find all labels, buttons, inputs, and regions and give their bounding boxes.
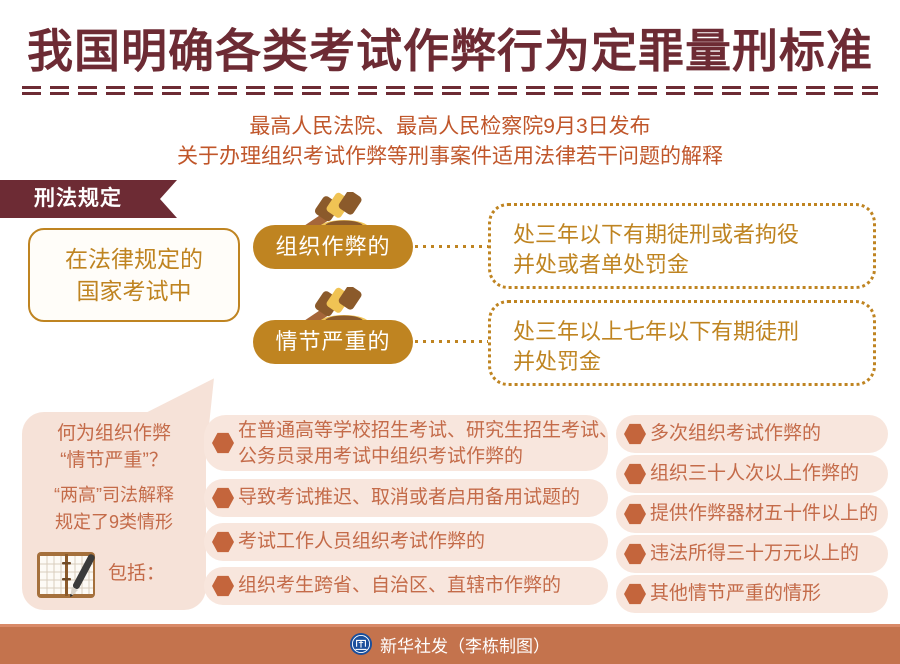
list-item: 在普通高等学校招生考试、研究生招生考试、 公务员录用考试中组织考试作弊的 [204, 415, 608, 471]
notebook-pen-icon [36, 548, 98, 602]
penalty-1-line-1: 处三年以下有期徒刑或者拘役 [513, 220, 873, 250]
list-item-text: 考试工作人员组织考试作弊的 [238, 529, 485, 555]
list-item: 提供作弊器材五十件以上的 [616, 495, 888, 533]
list-item-text: 导致考试推迟、取消或者启用备用试题的 [238, 485, 580, 511]
footer-credit: 新华社发（李栋制图） [380, 632, 550, 657]
premise-line-1: 在法律规定的 [65, 243, 203, 275]
offense-pill-2: 情节严重的 [253, 320, 413, 364]
offense-pill-1: 组织作弊的 [253, 225, 413, 269]
premise-box: 在法律规定的 国家考试中 [28, 228, 240, 322]
bullet-hex-icon [212, 487, 234, 509]
page-title: 我国明确各类考试作弊行为定罪量刑标准 [0, 22, 900, 80]
include-label: 包括： [108, 560, 165, 588]
list-item-line-1: 在普通高等学校招生考试、研究生招生考试、 [238, 418, 618, 444]
list-item: 考试工作人员组织考试作弊的 [204, 523, 608, 561]
list-item-line-2: 公务员录用考试中组织考试作弊的 [238, 444, 618, 470]
list-item-text: 其他情节严重的情形 [650, 581, 821, 607]
list-item-text: 违法所得三十万元以上的 [650, 541, 859, 567]
list-item: 违法所得三十万元以上的 [616, 535, 888, 573]
question-line-2: “情节严重”？ [22, 447, 206, 474]
penalty-1-line-2: 并处或者单处罚金 [513, 250, 873, 280]
subtitle-line-1: 最高人民法院、最高人民检察院9月3日发布 [0, 112, 900, 142]
list-item-text: 提供作弊器材五十件以上的 [650, 501, 878, 527]
list-item-text: 多次组织考试作弊的 [650, 421, 821, 447]
question-line-3: “两高”司法解释 [22, 482, 206, 509]
list-item: 组织三十人次以上作弊的 [616, 455, 888, 493]
list-item-text: 在普通高等学校招生考试、研究生招生考试、 公务员录用考试中组织考试作弊的 [238, 418, 618, 470]
subtitle-line-2: 关于办理组织考试作弊等刑事案件适用法律若干问题的解释 [0, 142, 900, 172]
question-line-4: 规定了9类情形 [22, 509, 206, 536]
question-line-1: 何为组织作弊 [22, 420, 206, 447]
divider-line-bottom [22, 92, 878, 95]
xinhua-logo-icon [350, 633, 372, 655]
subtitle: 最高人民法院、最高人民检察院9月3日发布 关于办理组织考试作弊等刑事案件适用法律… [0, 112, 900, 172]
penalty-box-2: 处三年以上七年以下有期徒刑 并处罚金 [488, 300, 876, 386]
bullet-hex-icon [624, 423, 646, 445]
ribbon-notch-shape [160, 180, 177, 218]
bullet-hex-icon [624, 543, 646, 565]
list-item-text: 组织三十人次以上作弊的 [650, 461, 859, 487]
list-item: 其他情节严重的情形 [616, 575, 888, 613]
list-item: 导致考试推迟、取消或者启用备用试题的 [204, 479, 608, 517]
premise-line-2: 国家考试中 [77, 275, 192, 307]
list-item: 组织考生跨省、自治区、直辖市作弊的 [204, 567, 608, 605]
penalty-2-line-2: 并处罚金 [513, 347, 873, 377]
title-divider [22, 86, 878, 95]
penalty-box-1: 处三年以下有期徒刑或者拘役 并处或者单处罚金 [488, 203, 876, 289]
section-ribbon-criminal-law: 刑法规定 [0, 180, 160, 218]
bullet-hex-icon [212, 531, 234, 553]
divider-line-top [22, 86, 878, 89]
penalty-2-line-1: 处三年以上七年以下有期徒刑 [513, 317, 873, 347]
bullet-hex-icon [212, 432, 234, 454]
footer-content: 新华社发（李栋制图） [0, 624, 900, 664]
list-item-text: 组织考生跨省、自治区、直辖市作弊的 [238, 573, 561, 599]
bullet-hex-icon [212, 575, 234, 597]
list-item: 多次组织考试作弊的 [616, 415, 888, 453]
connector-line-1 [415, 245, 490, 248]
bullet-hex-icon [624, 583, 646, 605]
connector-line-2 [415, 340, 490, 343]
infographic-root: 我国明确各类考试作弊行为定罪量刑标准 最高人民法院、最高人民检察院9月3日发布 … [0, 0, 900, 664]
bullet-hex-icon [624, 503, 646, 525]
bullet-hex-icon [624, 463, 646, 485]
question-text: 何为组织作弊 “情节严重”？ “两高”司法解释 规定了9类情形 [22, 420, 206, 536]
